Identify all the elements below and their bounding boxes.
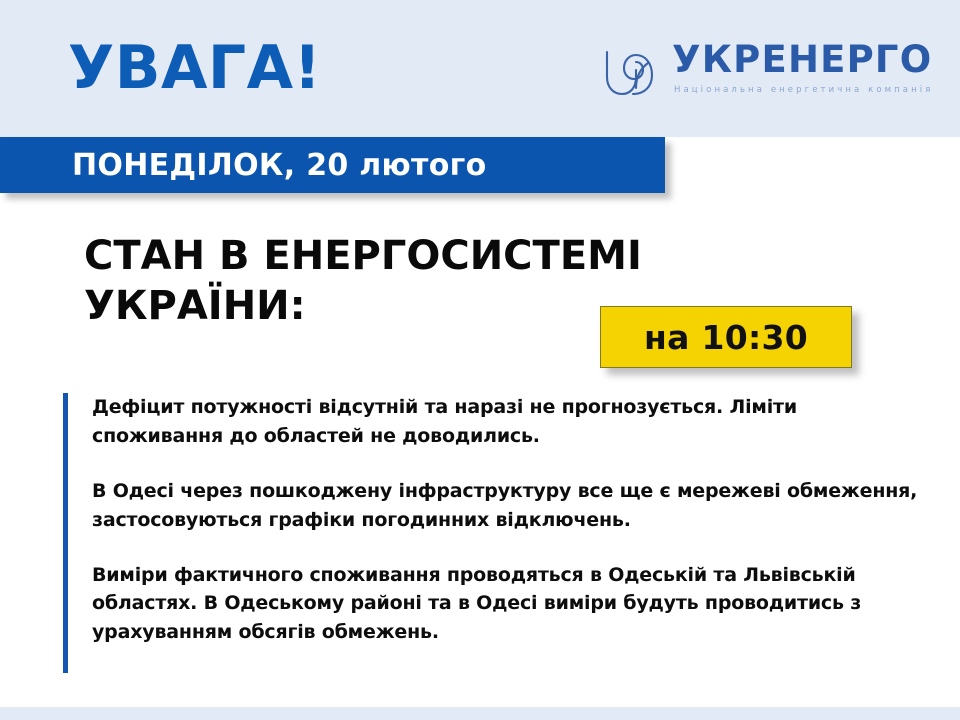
time-badge: на 10:30 <box>600 306 852 368</box>
ukrenergo-u-leaf-logomark-icon <box>600 44 662 102</box>
date-banner-dayofweek: ПОНЕДІЛОК, <box>72 148 295 183</box>
paragraph: В Одесі через пошкоджену інфраструктуру … <box>92 477 932 535</box>
time-badge-label: на 10:30 <box>601 307 851 367</box>
paragraph-list: Дефіцит потужності відсутній та наразі н… <box>92 393 932 647</box>
page-title-attention: УВАГА! <box>68 38 321 98</box>
accent-bar <box>63 393 68 673</box>
date-banner-date: 20 лютого <box>306 148 486 183</box>
footer-strip <box>0 707 960 720</box>
logo-tagline: Національна енергетична компанія <box>674 85 933 95</box>
ukrenergo-logo: УКРЕНЕРГО Національна енергетична компан… <box>600 42 912 104</box>
notice-slide: УВАГА! УКРЕНЕРГО Національна енергетична… <box>0 0 960 720</box>
date-banner-label: ПОНЕДІЛОК, 20 лютого <box>72 148 487 183</box>
date-banner: ПОНЕДІЛОК, 20 лютого <box>0 137 665 193</box>
paragraph: Дефіцит потужності відсутній та наразі н… <box>92 393 932 451</box>
logo-wordmark: УКРЕНЕРГО <box>672 40 932 81</box>
paragraph: Виміри фактичного споживання проводяться… <box>92 561 932 648</box>
